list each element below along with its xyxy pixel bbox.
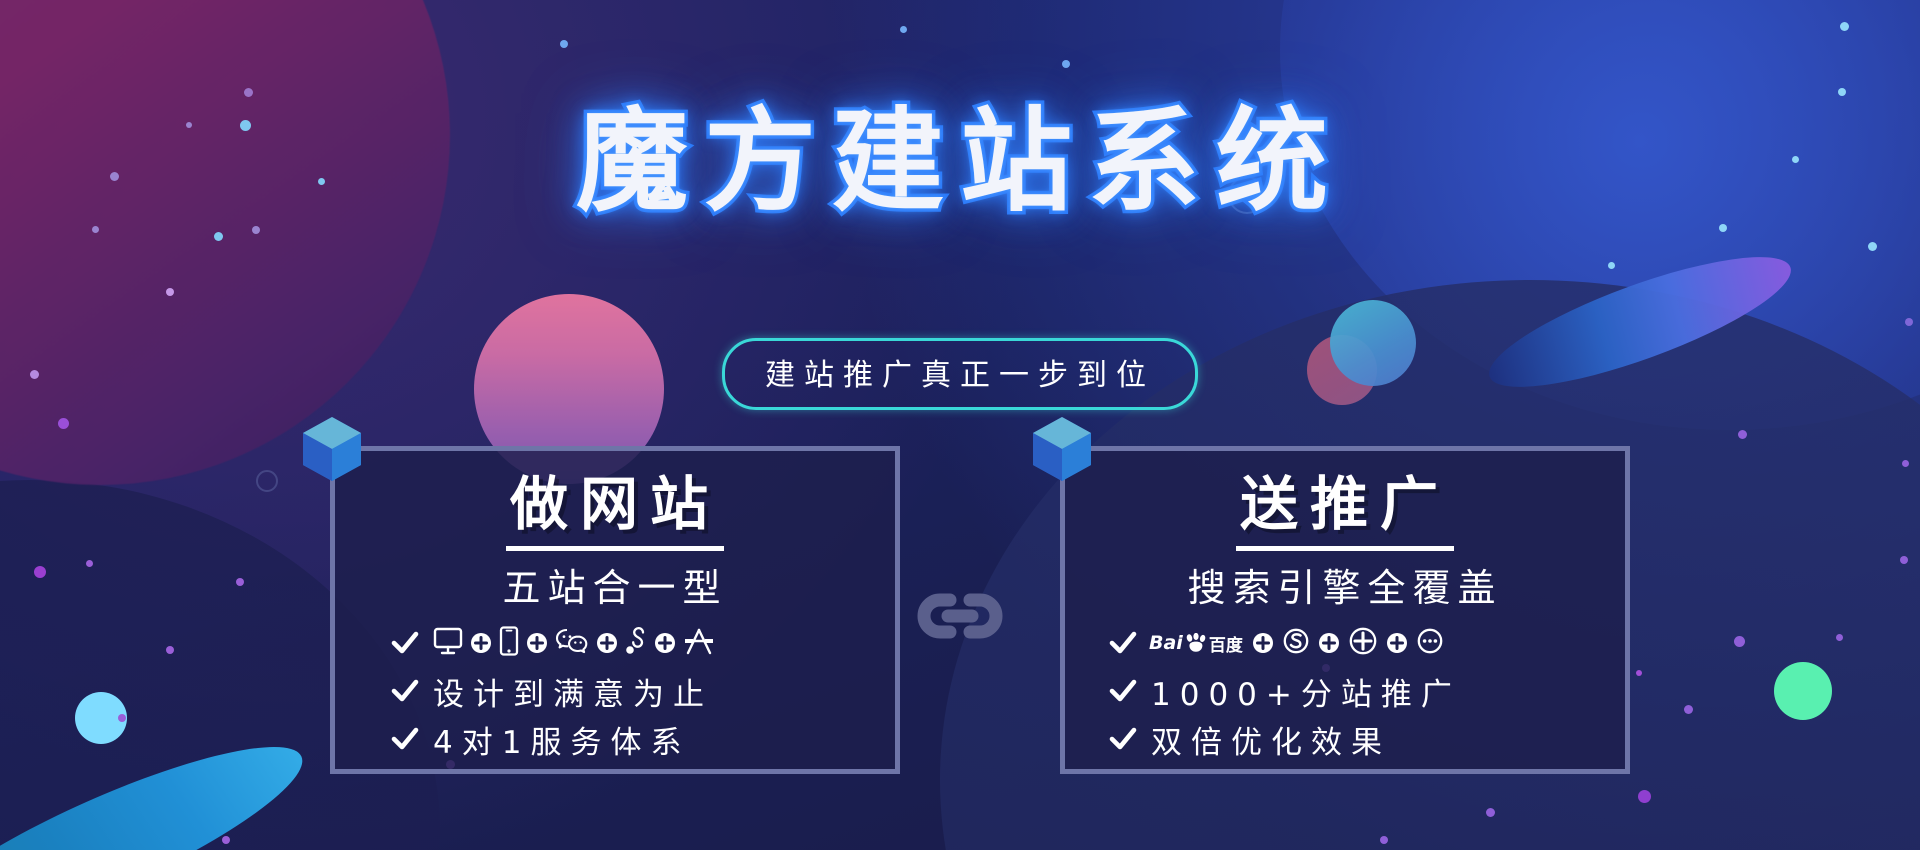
plus-icon: [596, 632, 618, 654]
star-dot: [1868, 242, 1877, 251]
panel-left-feature-2-label: 设计到满意为止: [433, 669, 713, 714]
title-block: 魔方建站系统: [0, 96, 1920, 228]
check-icon: [1109, 725, 1137, 753]
star-dot: [1638, 790, 1651, 803]
search-engine-icon-row: Bai 百度: [1149, 627, 1443, 660]
star-dot: [1062, 60, 1070, 68]
plus-icon: [654, 632, 676, 654]
star-dot: [900, 26, 907, 33]
qihoo360-icon: [1349, 627, 1377, 660]
panel-left-feature-3-label: 4对1服务体系: [433, 717, 690, 762]
panel-right-feature-3-label: 双倍优化效果: [1151, 717, 1391, 762]
mobile-phone-icon: [499, 626, 519, 661]
panel-make-website[interactable]: 做网站 五站合一型: [330, 446, 900, 774]
plus-icon: [526, 632, 548, 654]
baidu-logo: Bai 百度: [1149, 631, 1243, 656]
plus-icon: [1386, 632, 1408, 654]
more-icon: [1417, 628, 1443, 659]
sogou-icon: [1283, 628, 1309, 659]
plus-icon: [1318, 632, 1340, 654]
check-icon: [391, 629, 419, 657]
star-dot: [1738, 430, 1747, 439]
panel-right-heading: 送推广: [1236, 475, 1454, 551]
star-dot: [1380, 836, 1388, 844]
star-dot: [1840, 22, 1849, 31]
panel-right-feature-icons: Bai 百度: [1109, 623, 1625, 663]
panel-left-subheading: 五站合一型: [335, 565, 895, 611]
star-dot: [214, 232, 223, 241]
service-icon-row-left: [433, 626, 715, 661]
panel-left-feature-2: 设计到满意为止: [391, 671, 895, 711]
star-dot: [222, 836, 230, 844]
panel-right-feature-2: 1000+分站推广: [1109, 671, 1625, 711]
star-dot: [560, 40, 568, 48]
app-store-icon: [683, 627, 715, 660]
star-dot: [58, 418, 69, 429]
subtitle-pill: 建站推广真正一步到位: [722, 338, 1198, 410]
star-dot: [166, 288, 174, 296]
background-blob-top-left: [0, 0, 450, 485]
feature-panels: 做网站 五站合一型: [0, 446, 1920, 786]
main-title: 魔方建站系统: [576, 96, 1344, 228]
star-dot: [1838, 88, 1846, 96]
qq-icon: [625, 626, 647, 661]
check-icon: [1109, 629, 1137, 657]
star-dot: [1905, 318, 1913, 326]
star-dot: [1486, 808, 1495, 817]
promo-banner: 魔方建站系统 建站推广真正一步到位: [0, 0, 1920, 850]
plus-icon: [1252, 632, 1274, 654]
cube-badge-icon: [301, 415, 363, 483]
star-dot: [1608, 262, 1615, 269]
panel-free-promotion[interactable]: 送推广 搜索引擎全覆盖 Bai: [1060, 446, 1630, 774]
check-icon: [1109, 677, 1137, 705]
panel-left-heading: 做网站: [506, 475, 724, 551]
panel-right-feature-2-label: 1000+分站推广: [1151, 669, 1461, 714]
panel-right-body: 送推广 搜索引擎全覆盖 Bai: [1065, 475, 1625, 767]
panel-left-body: 做网站 五站合一型: [335, 475, 895, 767]
monitor-icon: [433, 627, 463, 660]
wechat-icon: [555, 627, 589, 660]
subtitle-block: 建站推广真正一步到位: [0, 338, 1920, 410]
panel-left-feature-icons: [391, 623, 895, 663]
cube-badge-icon: [1031, 415, 1093, 483]
baidu-chinese-label: 百度: [1209, 631, 1243, 656]
baidu-paw-icon: [1185, 633, 1207, 653]
check-icon: [391, 725, 419, 753]
panel-right-subheading: 搜索引擎全覆盖: [1065, 565, 1625, 611]
check-icon: [391, 677, 419, 705]
panel-right-feature-3: 双倍优化效果: [1109, 719, 1625, 759]
plus-icon: [470, 632, 492, 654]
baidu-latin-label: Bai: [1149, 632, 1183, 654]
panel-left-feature-3: 4对1服务体系: [391, 719, 895, 759]
